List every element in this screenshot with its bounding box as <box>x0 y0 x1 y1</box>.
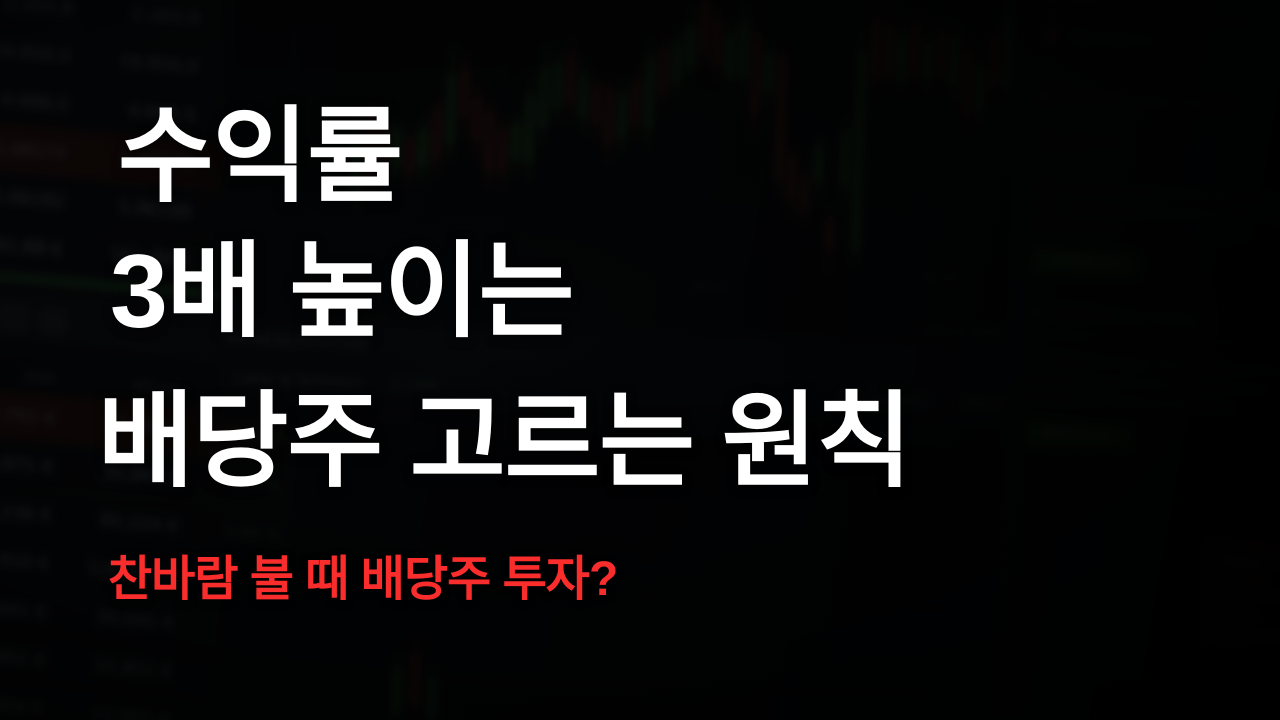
vignette-overlay <box>0 0 1280 720</box>
subtitle-text: 찬바람 불 때 배당주 투자? <box>108 556 617 604</box>
thumbnail-canvas: 11.264,5 11.264,5 11.264,5 0,78 % 1,0617… <box>0 0 1280 720</box>
